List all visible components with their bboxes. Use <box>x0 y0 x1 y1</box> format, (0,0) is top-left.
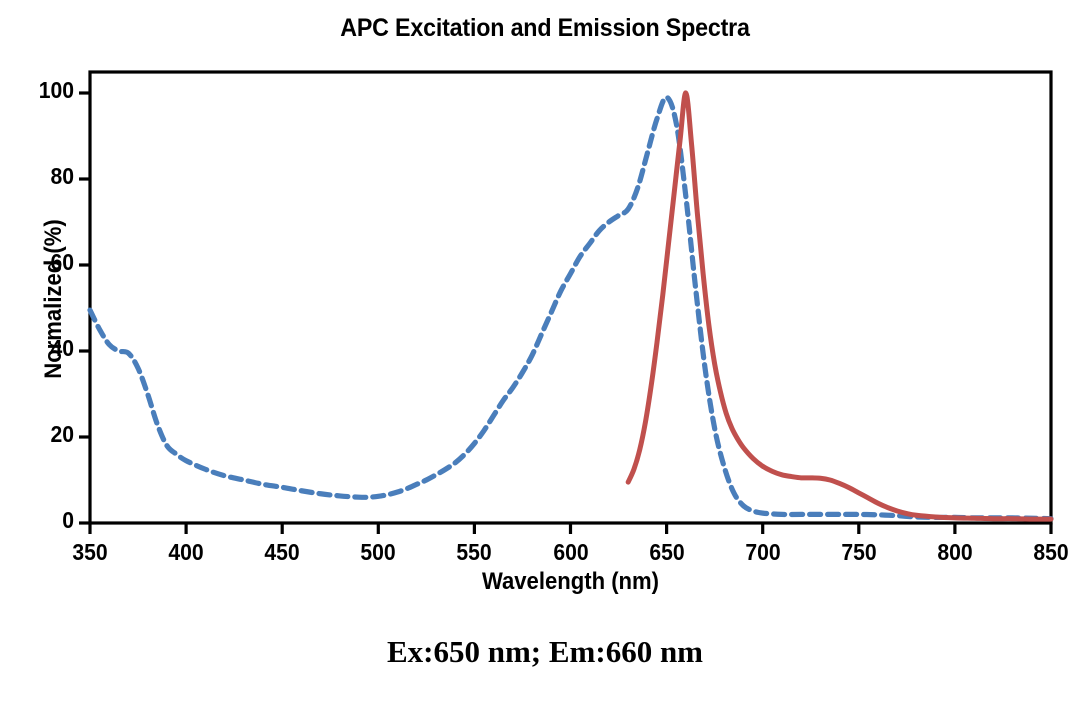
emission-curve <box>628 93 1051 519</box>
figure-caption: Ex:650 nm; Em:660 nm <box>0 634 1090 670</box>
x-tick-label: 500 <box>337 539 420 566</box>
axis-ticks <box>79 93 1051 534</box>
x-tick-label: 800 <box>913 539 996 566</box>
x-tick-label: 400 <box>145 539 228 566</box>
excitation-curve <box>90 97 1051 518</box>
x-tick-label: 450 <box>241 539 324 566</box>
x-tick-label: 750 <box>817 539 900 566</box>
x-tick-label: 850 <box>1010 539 1090 566</box>
x-axis-title: Wavelength (nm) <box>128 568 1012 596</box>
x-tick-label: 550 <box>433 539 516 566</box>
x-tick-label: 700 <box>721 539 804 566</box>
plot-frame <box>90 72 1051 523</box>
x-tick-label: 600 <box>529 539 612 566</box>
x-tick-label: 650 <box>625 539 708 566</box>
y-axis-title: Normalized (%) <box>40 161 68 437</box>
x-tick-label: 350 <box>49 539 132 566</box>
spectra-figure: APC Excitation and Emission Spectra 0204… <box>0 0 1090 703</box>
y-tick-label: 0 <box>19 507 74 534</box>
y-tick-label: 100 <box>19 77 74 104</box>
plot-area <box>0 0 1090 703</box>
